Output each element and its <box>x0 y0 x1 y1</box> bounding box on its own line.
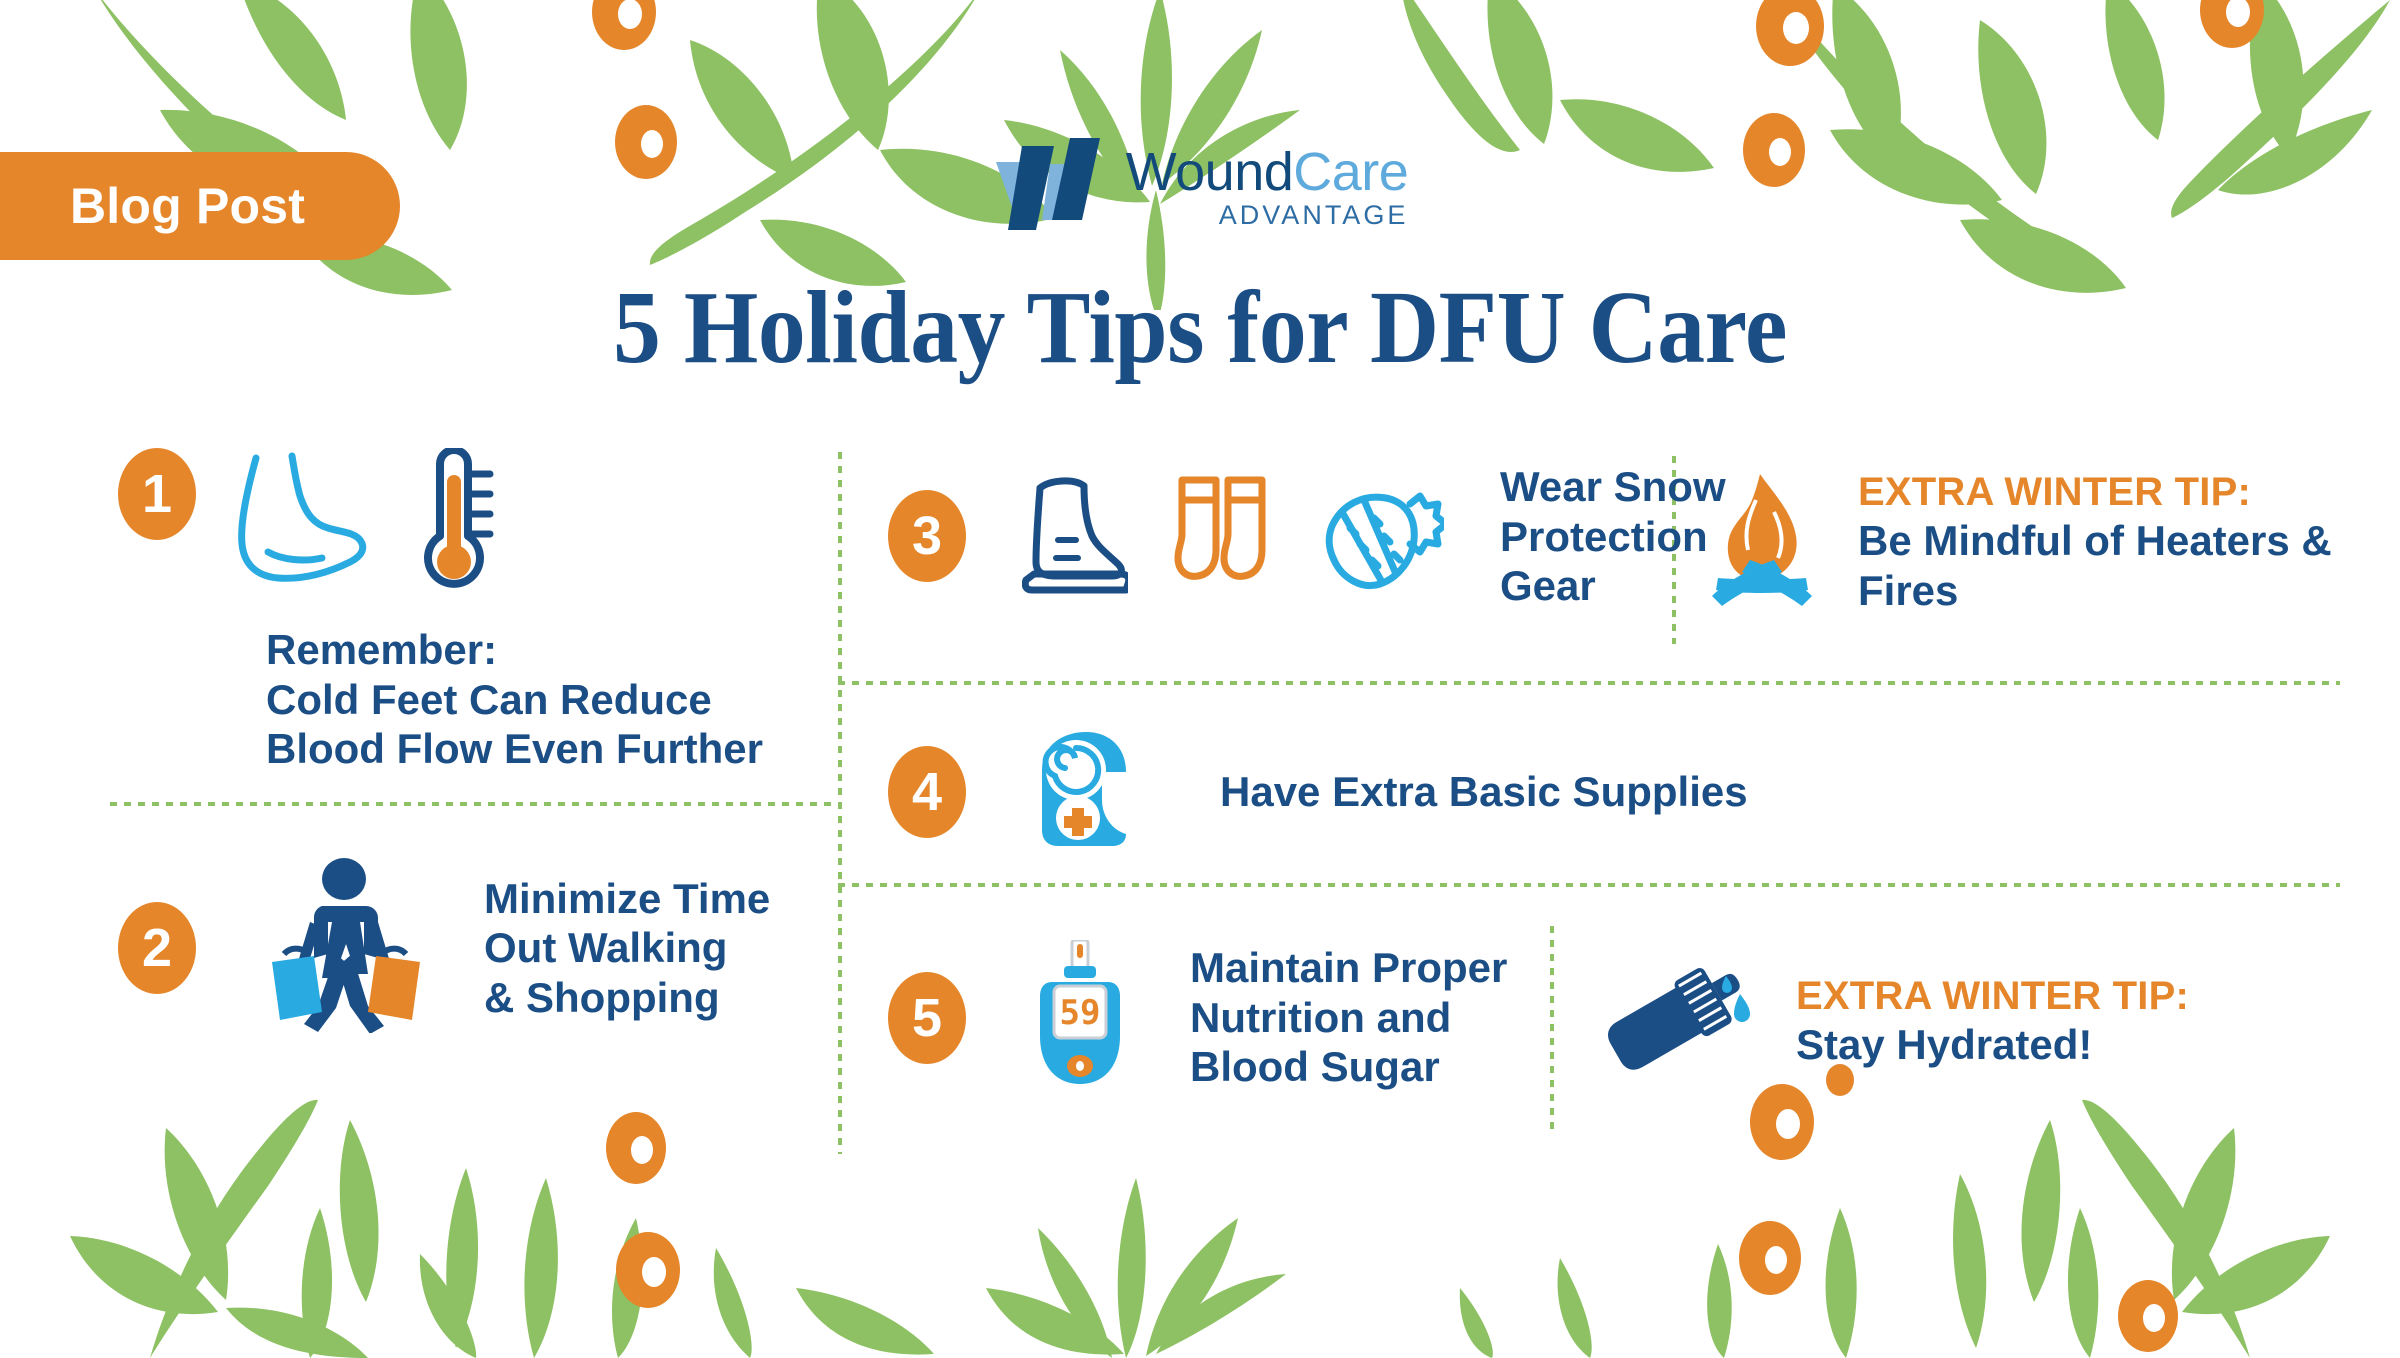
extra-tip-text-1: Be Mindful of Heaters & Fires <box>1858 516 2380 617</box>
tip-item-4: 4 Have Extra Basic Supplies <box>888 730 1788 853</box>
tip-text-1: Remember: Cold Feet Can Reduce Blood Flo… <box>266 625 838 774</box>
tip-number-badge-2: 2 <box>118 902 196 994</box>
glucometer-reading: 59 <box>1060 993 1101 1033</box>
tip-line: Be Mindful of <box>1858 517 2124 564</box>
divider-extra-tip-2 <box>1550 926 1554 1130</box>
bottom-foliage-decoration <box>0 1058 2400 1358</box>
page-title: 5 Holiday Tips for DFU Care <box>96 268 2304 387</box>
tip-line: Blood Sugar <box>1190 1042 1507 1092</box>
tip-item-2: 2 Minimiz <box>118 858 838 1038</box>
snow-boot-icon <box>1022 470 1128 603</box>
logo-word-wound: Wound <box>1126 142 1294 202</box>
tip-line: Minimize Time <box>484 874 770 924</box>
extra-winter-tip-2: EXTRA WINTER TIP: Stay Hydrated! <box>1600 960 2360 1083</box>
tip-item-5: 5 59 Maintain Proper Nutrition and Blood… <box>888 940 1528 1095</box>
glucometer-icon: 59 <box>1026 940 1138 1095</box>
extra-tip-label-1: EXTRA WINTER TIP: <box>1858 468 2380 516</box>
thermometer-icon <box>412 448 498 603</box>
tip-line: Nutrition and <box>1190 993 1507 1043</box>
tip-line: Out Walking <box>484 923 770 973</box>
tip-text-3: Wear Snow Protection Gear <box>1500 462 1726 611</box>
tip-text-4: Have Extra Basic Supplies <box>1220 767 1748 817</box>
tip-line: Gear <box>1500 561 1726 611</box>
water-bottle-icon <box>1600 960 1760 1083</box>
tip-line: Stay Hydrated! <box>1796 1021 2092 1068</box>
tip-text-2: Minimize Time Out Walking & Shopping <box>484 874 770 1023</box>
tip-line: Protection <box>1500 512 1726 562</box>
tip-number-badge-4: 4 <box>888 746 966 838</box>
tip-line: & Shopping <box>484 973 770 1023</box>
divider-left-column <box>110 802 842 806</box>
tip-line: Blood Flow Even Further <box>266 724 838 774</box>
tip-line: Wear Snow <box>1500 462 1726 512</box>
tip-item-1: 1 Remember: <box>118 448 838 774</box>
tip-line: Cold Feet Can Reduce <box>266 675 838 725</box>
blog-post-label: Blog Post <box>70 181 305 231</box>
shopper-walking-icon <box>244 858 444 1038</box>
extra-tip-text-2: Stay Hydrated! <box>1796 1020 2189 1070</box>
divider-column-split <box>838 452 842 1154</box>
socks-icon <box>1166 470 1284 603</box>
divider-right-row-1 <box>838 681 2340 685</box>
tip-line: Remember: <box>266 625 838 675</box>
blog-post-ribbon: Blog Post <box>0 152 400 260</box>
campfire-icon <box>1700 470 1824 615</box>
divider-right-row-2 <box>838 883 2340 887</box>
tip-item-3: 3 <box>888 462 1668 611</box>
tip-number-badge-5: 5 <box>888 972 966 1064</box>
tip-line: Maintain Proper <box>1190 943 1507 993</box>
logo-word-advantage: ADVANTAGE <box>1126 202 1409 229</box>
tip-number-badge-1: 1 <box>118 448 196 540</box>
extra-tip-label-2: EXTRA WINTER TIP: <box>1796 972 2189 1020</box>
beanie-hat-icon <box>1320 470 1444 603</box>
extra-winter-tip-1: EXTRA WINTER TIP: Be Mindful of Heaters … <box>1700 468 2380 617</box>
logo-word-care: Care <box>1293 142 1408 202</box>
woundcare-w-mark-icon <box>992 138 1104 235</box>
tip-number-badge-3: 3 <box>888 490 966 582</box>
foot-icon <box>226 448 376 593</box>
bandage-roll-icon <box>1030 730 1152 853</box>
tip-text-5: Maintain Proper Nutrition and Blood Suga… <box>1190 943 1507 1092</box>
tip-line: Have Extra Basic Supplies <box>1220 767 1748 817</box>
infographic-canvas: Blog Post WoundCare ADVANTAGE 5 Holiday … <box>0 0 2400 1350</box>
